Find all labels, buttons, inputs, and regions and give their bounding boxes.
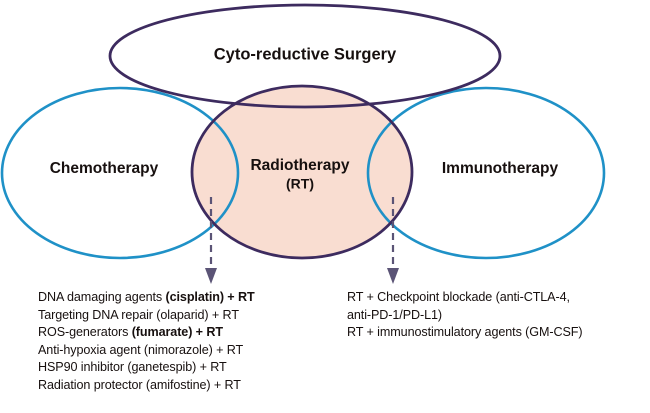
list-item-emphasis: (cisplatin) + RT — [166, 290, 255, 304]
list-item-text: Radiation protector (amifostine) + RT — [38, 378, 241, 392]
list-item-text: anti-PD-1/PD-L1) — [347, 308, 442, 322]
list-item-text: Anti-hypoxia agent (nimorazole) + RT — [38, 343, 243, 357]
list-item: RT + immunostimulatory agents (GM-CSF) — [347, 324, 647, 342]
list-item-text: RT + immunostimulatory agents (GM-CSF) — [347, 325, 582, 339]
list-item-emphasis: (fumarate) + RT — [132, 325, 223, 339]
venn-diagram-figure: Cyto-reductive Surgery Chemotherapy Radi… — [0, 0, 650, 413]
chemo-rt-combination-list: DNA damaging agents (cisplatin) + RT Tar… — [38, 289, 348, 395]
immuno-rt-combination-list: RT + Checkpoint blockade (anti-CTLA-4, a… — [347, 289, 647, 342]
list-item-text: ROS-generators — [38, 325, 132, 339]
list-item: DNA damaging agents (cisplatin) + RT — [38, 289, 348, 307]
list-item-text: HSP90 inhibitor (ganetespib) + RT — [38, 360, 227, 374]
caption-area: DNA damaging agents (cisplatin) + RT Tar… — [0, 289, 650, 413]
list-item: HSP90 inhibitor (ganetespib) + RT — [38, 359, 348, 377]
list-item: Radiation protector (amifostine) + RT — [38, 377, 348, 395]
list-item: Anti-hypoxia agent (nimorazole) + RT — [38, 342, 348, 360]
chemotherapy-label: Chemotherapy — [50, 160, 159, 177]
list-item: anti-PD-1/PD-L1) — [347, 307, 647, 325]
radiotherapy-label-line1: Radiotherapy — [250, 157, 349, 174]
list-item: RT + Checkpoint blockade (anti-CTLA-4, — [347, 289, 647, 307]
list-item-text: RT + Checkpoint blockade (anti-CTLA-4, — [347, 290, 570, 304]
list-item-text: Targeting DNA repair (olaparid) + RT — [38, 308, 239, 322]
list-item: ROS-generators (fumarate) + RT — [38, 324, 348, 342]
venn-diagram-canvas: Cyto-reductive Surgery Chemotherapy Radi… — [0, 0, 650, 290]
radiotherapy-label-line2: (RT) — [286, 176, 314, 192]
immunotherapy-label: Immunotherapy — [442, 160, 559, 177]
surgery-label: Cyto-reductive Surgery — [214, 45, 397, 63]
list-item: Targeting DNA repair (olaparid) + RT — [38, 307, 348, 325]
list-item-text: DNA damaging agents — [38, 290, 166, 304]
